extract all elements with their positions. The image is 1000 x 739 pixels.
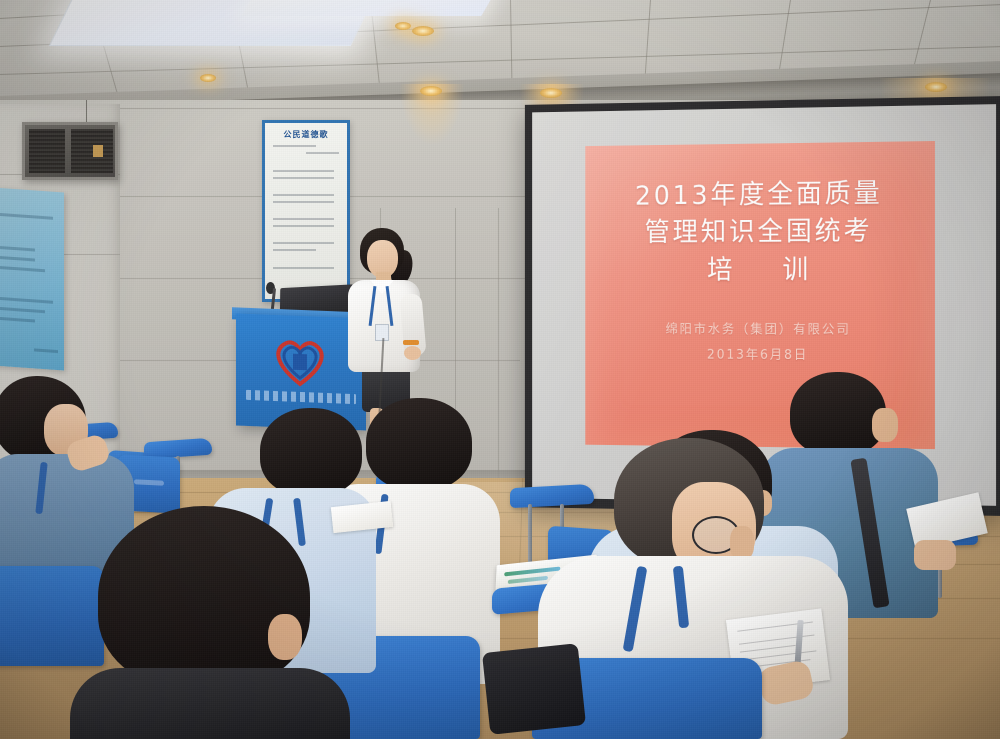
attendee-hand xyxy=(914,540,956,570)
wall-mounted-speaker xyxy=(22,122,118,180)
attendee-shoulders xyxy=(70,668,350,739)
attendee-head xyxy=(260,408,362,496)
attendee-front-left-man xyxy=(70,506,350,739)
recessed-downlight xyxy=(925,82,947,92)
recessed-downlight xyxy=(412,26,434,36)
slide-title-line-3: 培 训 xyxy=(686,252,829,290)
presenter-hand xyxy=(404,346,421,360)
slide-title-line-1: 2013年度全面质量 xyxy=(635,175,883,215)
speaker-grille-left xyxy=(29,129,65,173)
recessed-downlight xyxy=(540,88,562,98)
poster-title: 公民道德歌 xyxy=(270,129,342,140)
training-room-photograph: 公民道德歌 2013年度全面质量 管理知识全国统考 培 训 绵阳市水务（集团）有… xyxy=(0,0,1000,739)
presenter-wristwatch xyxy=(403,340,419,345)
slide-subtitle-org: 绵阳市水务（集团）有限公司 xyxy=(666,319,851,343)
floor-bag xyxy=(482,643,586,735)
attendee-ear xyxy=(268,614,302,660)
chair-leg xyxy=(528,504,532,566)
attendee-front-right-man xyxy=(552,430,882,739)
recessed-downlight xyxy=(420,86,442,96)
heart-emblem-icon xyxy=(270,335,330,389)
attendee-head xyxy=(98,506,310,688)
speaker-indicator xyxy=(93,145,103,157)
slide-title-line-2: 管理知识全国统考 xyxy=(645,213,873,252)
attendee-ear xyxy=(730,526,754,560)
speaker-grille-right xyxy=(71,129,113,173)
recessed-downlight xyxy=(395,22,411,30)
fluorescent-panel-light-secondary xyxy=(241,0,498,16)
recessed-downlight xyxy=(200,74,216,82)
slide-subtitle-date: 2013年6月8日 xyxy=(707,344,808,368)
wall-poster-song-sheet: 公民道德歌 xyxy=(262,120,350,302)
wall-notice-board xyxy=(0,187,64,370)
